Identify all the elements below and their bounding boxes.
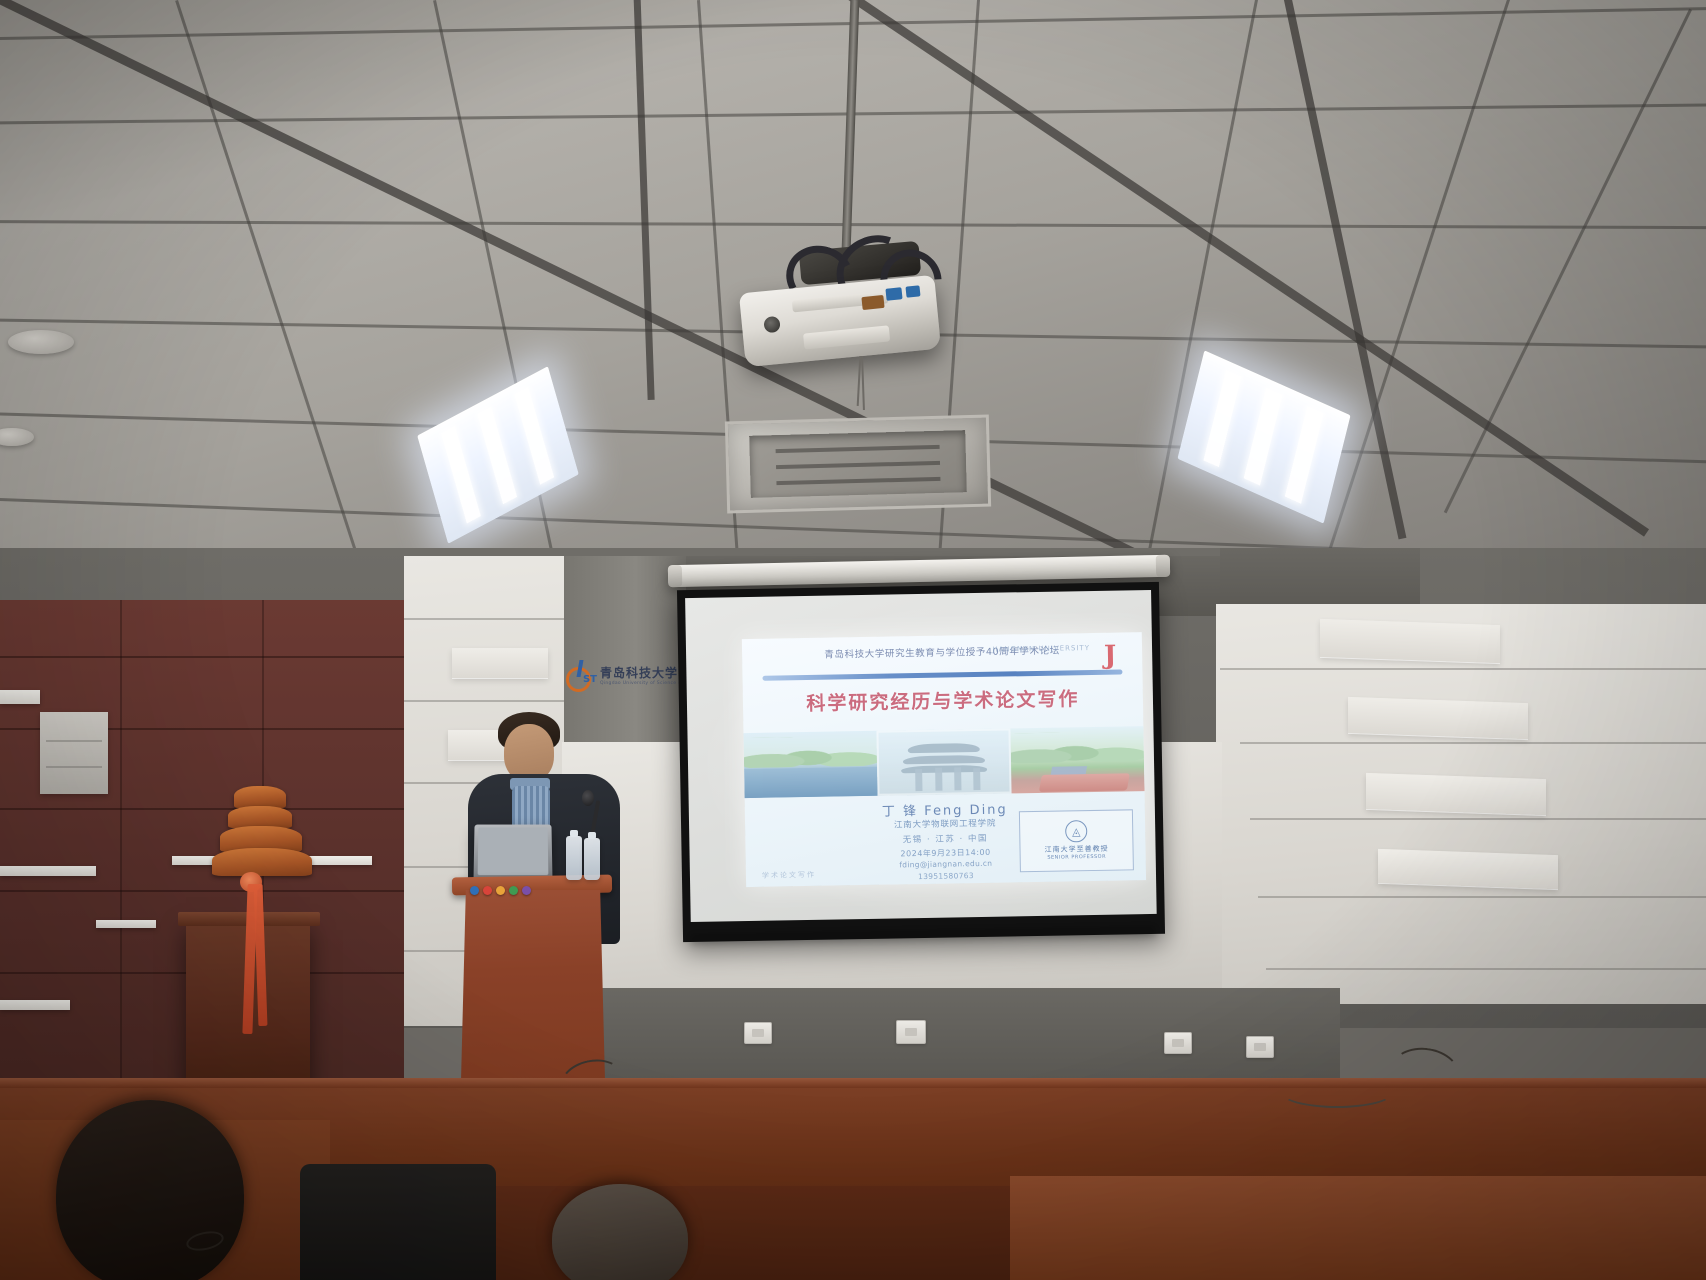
floor-cable — [1280, 1076, 1394, 1108]
podium-button-purple[interactable] — [522, 886, 531, 895]
wall-outlet-3[interactable] — [1164, 1032, 1192, 1054]
lecture-hall-photo: ST 青岛科技大学 Qingdao University of Science … — [0, 0, 1706, 1280]
hdmi-port — [885, 287, 902, 301]
badge-title-en: SENIOR PROFESSOR — [1047, 854, 1106, 861]
audience-head-left — [56, 1100, 244, 1280]
wall-outlet-1[interactable] — [744, 1022, 772, 1044]
ceiling — [0, 0, 1706, 600]
qust-mark-icon: ST — [566, 660, 596, 690]
podium-button-red[interactable] — [483, 886, 492, 895]
jiangnan-logo-text: JIANGNAN UNIVERSITY — [992, 644, 1090, 654]
smoke-detector — [8, 330, 74, 354]
wall-notice-board — [40, 712, 108, 794]
smoke-detector — [0, 428, 34, 446]
projection-screen: 青岛科技大学研究生教育与学位授予40周年学术论坛 科学研究经历与学术论文写作 J… — [685, 590, 1157, 922]
slide-footer: 学术论文写作 — [762, 870, 816, 881]
water-bottle[interactable] — [584, 838, 600, 880]
slide-title: 科学研究经历与学术论文写作 — [751, 683, 1135, 717]
ceiling-air-conditioner — [725, 415, 991, 514]
podium-button-green[interactable] — [509, 886, 518, 895]
campus-path-photo — [1010, 726, 1144, 793]
slide-divider — [762, 670, 1122, 681]
podium-control-buttons[interactable] — [470, 886, 531, 895]
badge-emblem-icon: ◬ — [1065, 820, 1087, 842]
slide-photo-strip — [743, 726, 1144, 797]
jiangnan-logo-icon: J — [1094, 642, 1127, 682]
wall-outlet-4[interactable] — [1246, 1036, 1274, 1058]
ceiling-light-right — [1177, 350, 1350, 523]
senior-professor-badge: ◬ 江南大学至善教授 SENIOR PROFESSOR — [1019, 809, 1134, 872]
campus-lake-photo — [743, 731, 877, 798]
wall-outlet-2[interactable] — [896, 1020, 926, 1044]
vga-port — [905, 285, 920, 297]
chair-back — [300, 1164, 496, 1280]
carved-wooden-pagoda-ornament — [212, 780, 312, 920]
power-port — [861, 295, 884, 310]
water-bottle[interactable] — [566, 836, 582, 880]
ceiling-light-left — [417, 366, 579, 544]
presenter-laptop[interactable] — [473, 825, 552, 883]
podium-button-blue[interactable] — [470, 886, 479, 895]
podium-button-yellow[interactable] — [496, 886, 505, 895]
front-desk — [1010, 1176, 1706, 1280]
campus-gate-photo — [877, 729, 1011, 796]
microphone-head-icon — [582, 790, 594, 806]
presentation-slide: 青岛科技大学研究生教育与学位授予40周年学术论坛 科学研究经历与学术论文写作 J… — [742, 632, 1146, 887]
projection-screen-frame: 青岛科技大学研究生教育与学位授予40周年学术论坛 科学研究经历与学术论文写作 J… — [677, 582, 1165, 942]
